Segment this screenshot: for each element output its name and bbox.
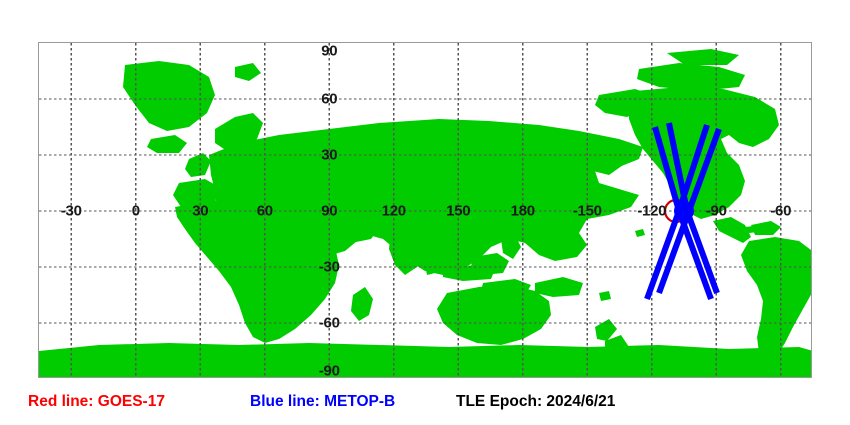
land-arctic-islands	[637, 63, 745, 91]
longitude-tick-label: -150	[573, 204, 602, 219]
longitude-tick-label: -30	[61, 204, 82, 219]
longitude-tick-label: 0	[132, 204, 140, 219]
land-madagascar	[351, 287, 373, 321]
metopb-position-dot	[674, 201, 694, 221]
longitude-tick-label: 90	[321, 204, 337, 219]
land-greenland	[123, 61, 215, 131]
longitude-tick-label: -60	[770, 204, 791, 219]
land-iceland	[147, 135, 187, 153]
land-newguinea	[535, 277, 583, 297]
land-africa	[175, 199, 339, 343]
land-australia	[437, 285, 551, 345]
land-island-hawaii	[635, 229, 645, 237]
longitude-tick-label: -120	[637, 204, 666, 219]
latitude-tick-label: -60	[319, 316, 340, 331]
longitude-tick-label: 60	[257, 204, 273, 219]
latitude-tick-label: -90	[319, 364, 340, 379]
land-svalbard	[235, 63, 261, 81]
legend-tle-epoch: TLE Epoch: 2024/6/21	[456, 394, 615, 410]
longitude-tick-label: 30	[192, 204, 208, 219]
world-map-plot: -300306090120150180-150-120-90-60 906030…	[38, 42, 812, 378]
latitude-tick-label: 30	[321, 148, 337, 163]
land-masses	[39, 49, 812, 378]
land-british-isles	[185, 153, 211, 177]
land-antarctica	[39, 343, 812, 378]
longitude-tick-label: 150	[446, 204, 470, 219]
legend: Red line: GOES-17 Blue line: METOP-B TLE…	[0, 390, 850, 416]
legend-red-line-goes17: Red line: GOES-17	[28, 394, 165, 410]
land-newzealand	[595, 319, 617, 341]
latitude-tick-label: 90	[321, 44, 337, 59]
land-central-america	[713, 217, 751, 243]
land-south-america	[741, 237, 812, 361]
longitude-tick-label: 180	[511, 204, 535, 219]
map-canvas	[39, 43, 812, 378]
legend-blue-line-metopb: Blue line: METOP-B	[250, 394, 395, 410]
latitude-tick-label: -30	[319, 260, 340, 275]
latitude-tick-label: 60	[321, 92, 337, 107]
longitude-tick-label: 120	[382, 204, 406, 219]
land-island-fiji	[599, 291, 611, 301]
longitude-tick-label: -90	[706, 204, 727, 219]
land-arctic-islands-2	[667, 49, 739, 65]
